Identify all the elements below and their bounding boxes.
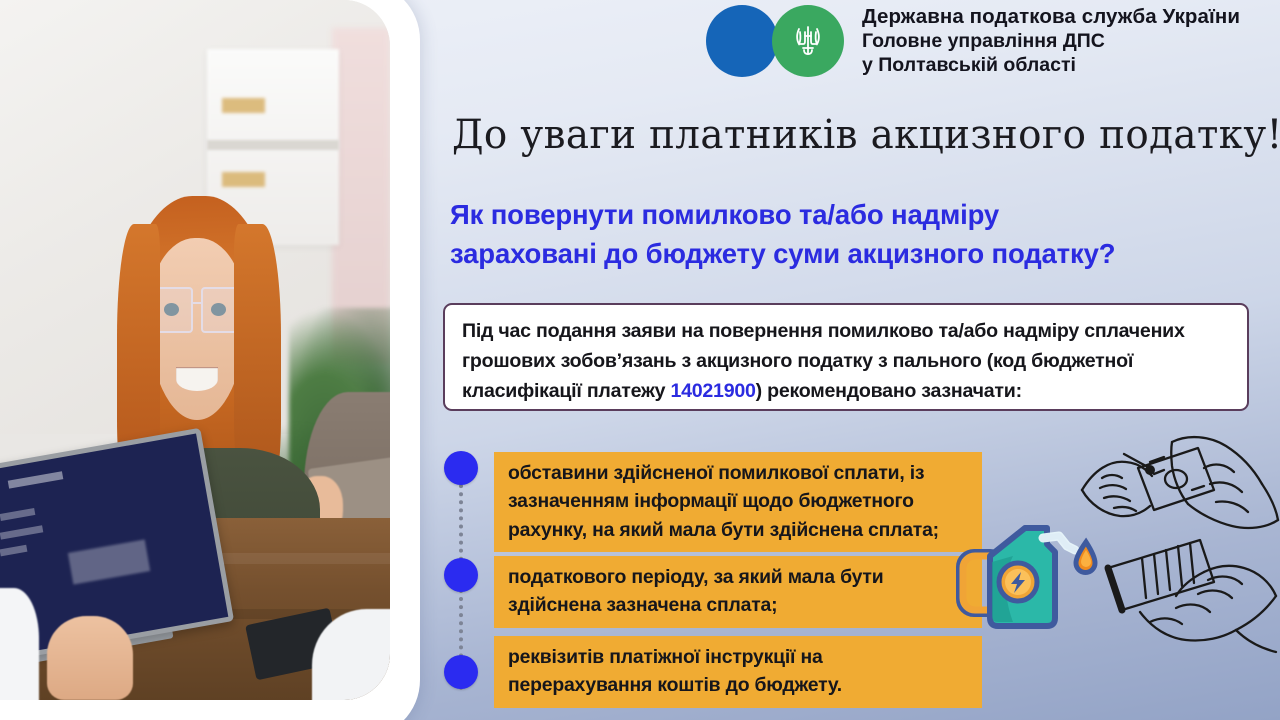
photo-eyeglass-bridge — [192, 302, 201, 304]
receipt-line-2 — [1154, 554, 1158, 594]
lower-hand-crease — [1150, 618, 1182, 624]
page-subtitle: Як повернути помилково та/або надміру за… — [450, 195, 1250, 273]
bullet-dot-1 — [444, 451, 478, 485]
info-callout-text: Під час подання заяви на повернення поми… — [462, 317, 1231, 407]
upper-left-finger-2 — [1100, 485, 1126, 489]
logo-text-block: Державна податкова служба України Головн… — [862, 4, 1240, 78]
upper-left-hand-palm — [1082, 490, 1150, 516]
bullet-item-3: реквізитів платіжної інструкції на перер… — [494, 636, 982, 708]
receipt-line-1 — [1142, 558, 1146, 598]
page-subtitle-line-1: Як повернути помилково та/або надміру — [450, 199, 999, 230]
upper-right-finger-1 — [1204, 465, 1234, 472]
banknote-line-2 — [1154, 470, 1164, 474]
photo-shelf-handle-top — [222, 98, 265, 113]
receipt-line-4 — [1178, 546, 1182, 586]
receipt-edge — [1108, 568, 1122, 610]
info-text-after-code: ) рекомендовано зазначати: — [756, 380, 1022, 402]
upper-left-finger-3 — [1104, 496, 1130, 501]
page-subtitle-line-2: зараховані до бюджету суми акцизного под… — [450, 238, 1115, 269]
photo-woman-smile — [176, 367, 219, 391]
info-callout-box: Під час подання заяви на повернення поми… — [443, 303, 1249, 411]
page-title: До уваги платників акцизного податку! — [452, 112, 1228, 158]
upper-right-hand-outline — [1172, 437, 1262, 484]
hands-exchanging-money-line-art — [1080, 432, 1280, 682]
photo-foreground-hand — [47, 616, 133, 700]
left-photo-panel — [0, 0, 420, 720]
upper-right-finger-3 — [1216, 501, 1248, 512]
lower-hand-outline — [1140, 612, 1236, 641]
organization-logo-header: Державна податкова служба України Головн… — [706, 4, 1240, 78]
upper-left-thumb — [1114, 507, 1136, 511]
bullet-dot-3 — [444, 655, 478, 689]
upper-left-finger-1 — [1102, 475, 1122, 478]
lower-finger-2 — [1198, 591, 1232, 598]
photo-shelf-handle-bottom — [222, 172, 265, 187]
trident-emblem-icon — [793, 20, 823, 62]
budget-classification-code: 14021900 — [670, 380, 755, 402]
logo-department-line-2: у Полтавській області — [862, 54, 1240, 78]
logo-org-name: Державна податкова служба України — [862, 4, 1240, 30]
logo-green-circle — [772, 5, 844, 77]
pen-tip — [1145, 465, 1155, 475]
banknote-line-3 — [1192, 486, 1204, 490]
lower-wrist-line — [1236, 630, 1276, 652]
logo-department-line-1: Головне управління ДПС — [862, 30, 1240, 54]
upper-right-hand-side — [1262, 484, 1278, 520]
bullet-item-1: обставини здійсненої помилкової сплати, … — [494, 452, 982, 552]
office-meeting-photo — [0, 0, 390, 700]
bullet-dot-2 — [444, 558, 478, 592]
upper-right-hand-palm — [1188, 504, 1278, 528]
logo-blue-circle — [706, 5, 778, 77]
photo-shelf-divider — [207, 140, 340, 150]
bullet-item-2: податкового періоду, за який мала бути з… — [494, 556, 982, 628]
receipt-line-3 — [1166, 550, 1170, 590]
lower-hand-side — [1236, 596, 1276, 630]
photo-eyeglass-left — [154, 287, 193, 333]
lower-thumb — [1176, 605, 1210, 612]
bullet-connector-rail — [444, 448, 478, 698]
